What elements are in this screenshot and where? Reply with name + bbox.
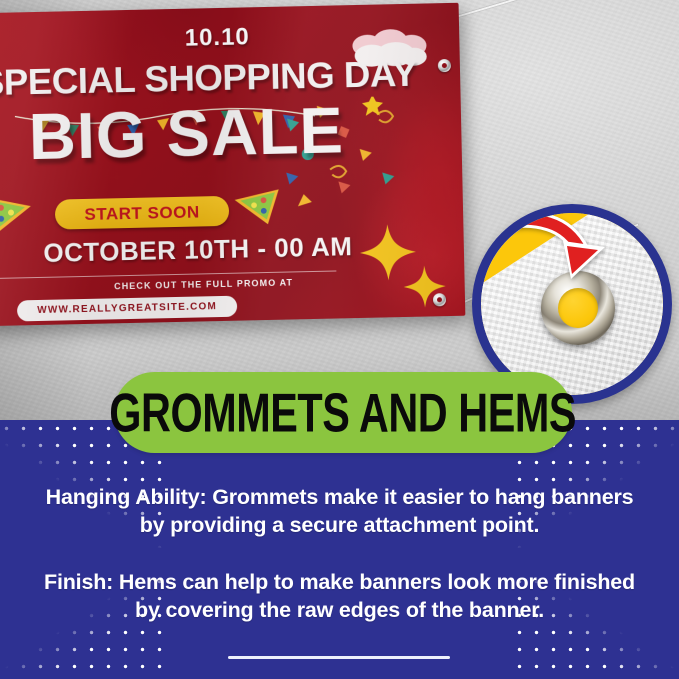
infographic-canvas: 10.10 SPECIAL SHOPPING DAY BIG SALE STAR… bbox=[0, 0, 679, 679]
banner-surface: 10.10 SPECIAL SHOPPING DAY BIG SALE STAR… bbox=[0, 3, 465, 326]
bottom-divider bbox=[228, 656, 450, 659]
banner-cta-button[interactable]: START SOON bbox=[55, 196, 230, 230]
paragraph-line: by covering the raw edges of the banner. bbox=[0, 596, 679, 624]
grommet-detail-photo bbox=[481, 213, 663, 395]
paragraph-line: Hanging Ability: Grommets make it easier… bbox=[0, 483, 679, 511]
curved-arrow-icon bbox=[481, 213, 617, 317]
pizza-slice-icon bbox=[230, 183, 283, 228]
section-title-banner: GROMMETS AND HEMS bbox=[114, 372, 572, 453]
banner-mockup: 10.10 SPECIAL SHOPPING DAY BIG SALE STAR… bbox=[0, 3, 465, 326]
paragraph-hanging-ability: Hanging Ability: Grommets make it easier… bbox=[0, 483, 679, 540]
page-title: GROMMETS AND HEMS bbox=[110, 385, 577, 440]
paragraph-finish: Finish: Hems can help to make banners lo… bbox=[0, 568, 679, 625]
info-panel: Hanging Ability: Grommets make it easier… bbox=[0, 420, 679, 679]
banner-headline-main: BIG SALE bbox=[0, 95, 444, 171]
banner-website-pill[interactable]: WWW.REALLYGREATSITE.COM bbox=[17, 296, 237, 322]
paragraph-line: by providing a secure attachment point. bbox=[0, 511, 679, 539]
pizza-slice-icon bbox=[0, 190, 35, 235]
paragraph-line: Finish: Hems can help to make banners lo… bbox=[0, 568, 679, 596]
